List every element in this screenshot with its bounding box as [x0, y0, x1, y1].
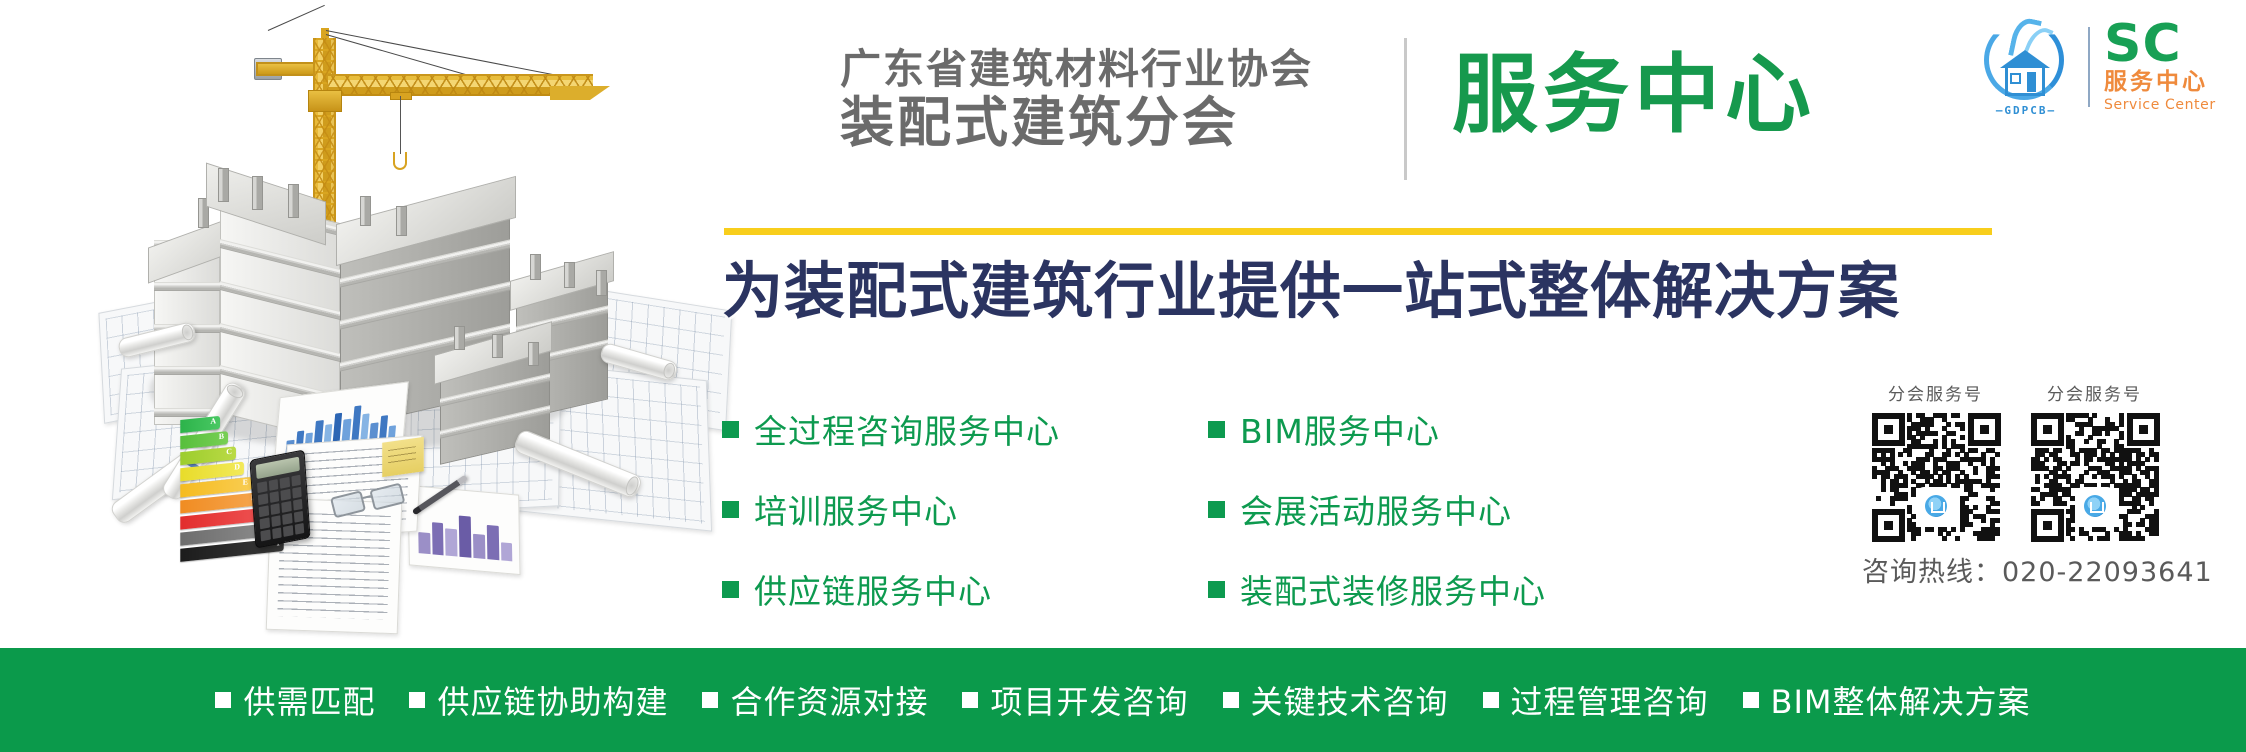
crane-trolley [390, 92, 412, 100]
service-item[interactable]: 培训服务中心 [722, 485, 1060, 533]
crane-hook [393, 152, 407, 170]
rebar-column [530, 254, 541, 280]
sticky-note [382, 437, 424, 477]
logo-house-window [2010, 73, 2021, 84]
rebar-column [218, 168, 229, 202]
crane-operator-cab [308, 90, 342, 112]
square-bullet-icon [1208, 501, 1225, 518]
qr-code-image[interactable] [2031, 413, 2158, 540]
sc-chinese-label: 服务中心 [2104, 69, 2216, 95]
purple-bar-chart-sheet [408, 485, 521, 575]
energy-grade: B [219, 432, 224, 442]
logo-house-icon [2000, 50, 2050, 96]
tagline: 为装配式建筑行业提供一站式整体解决方案 [722, 258, 1900, 325]
square-bullet-icon [1223, 692, 1239, 708]
energy-bar: A [180, 416, 220, 433]
rebar-column [492, 334, 503, 358]
square-bullet-icon [722, 421, 739, 438]
calculator [249, 449, 310, 548]
gdpcb-association-logo-icon: —GDPCB— [1978, 18, 2074, 116]
title-vertical-divider [1404, 38, 1407, 180]
qr-embedded-logo [1919, 489, 1953, 523]
crane-tie-rear [268, 5, 325, 31]
bottom-bar-item[interactable]: BIM整体解决方案 [1743, 677, 2031, 723]
gold-horizontal-rule [724, 228, 1992, 235]
energy-grade: C [226, 447, 232, 457]
service-item-label: 供应链服务中心 [754, 565, 992, 613]
construction-hero-illustration: A B C D E F G H I [30, 0, 690, 630]
service-item-label: 会展活动服务中心 [1240, 485, 1512, 533]
association-title: 广东省建筑材料行业协会 装配式建筑分会 [840, 48, 1380, 154]
calculator-keys [257, 475, 304, 542]
service-center-list: 全过程咨询服务中心 培训服务中心 供应链服务中心 BIM服务中心 会展活动服务中… [722, 405, 1546, 613]
energy-grade: E [243, 477, 248, 487]
bottom-bar-label: 供需匹配 [243, 677, 375, 723]
square-bullet-icon [702, 692, 718, 708]
gdpcb-code-text: —GDPCB— [1978, 104, 2074, 117]
crane-tie-front [326, 30, 562, 77]
square-bullet-icon [1208, 421, 1225, 438]
sc-initials: SC [2104, 20, 2216, 69]
square-bullet-icon [722, 501, 739, 518]
rebar-column [396, 206, 407, 236]
qr-block: 分会服务号 [2031, 380, 2158, 540]
bottom-bar-item[interactable]: 供应链协助构建 [409, 677, 668, 723]
logo-vertical-divider [2088, 27, 2090, 107]
qr-code-area: 分会服务号 分会服务号 [1872, 380, 2158, 540]
square-bullet-icon [409, 692, 425, 708]
qr-embedded-logo [2078, 489, 2112, 523]
association-name-line1: 广东省建筑材料行业协会 [840, 48, 1380, 91]
service-center-logo: SC 服务中心 Service Center [2104, 20, 2216, 114]
square-bullet-icon [1208, 581, 1225, 598]
bottom-bar-label: 过程管理咨询 [1511, 677, 1709, 723]
rebar-column [564, 262, 575, 288]
service-item-label: 装配式装修服务中心 [1240, 565, 1546, 613]
chart-bars [418, 501, 513, 561]
service-item[interactable]: BIM服务中心 [1208, 405, 1546, 453]
square-bullet-icon [1743, 692, 1759, 708]
service-center-heading: 服务中心 [1452, 52, 1816, 138]
logo-house-pillar [2027, 72, 2036, 92]
rebar-column [252, 176, 263, 210]
square-bullet-icon [962, 692, 978, 708]
qr-caption: 分会服务号 [2031, 380, 2158, 405]
bottom-bar-item[interactable]: 供需匹配 [215, 677, 375, 723]
bottom-bar-label: BIM整体解决方案 [1771, 677, 2031, 723]
square-bullet-icon [215, 692, 231, 708]
service-item-label: 培训服务中心 [754, 485, 958, 533]
crane-hoist-line [400, 96, 401, 154]
logo-house-roof [2000, 50, 2050, 68]
hotline-text: 咨询热线：020-22093641 [1862, 550, 2213, 589]
rebar-column [528, 342, 539, 366]
energy-grade: D [234, 462, 240, 472]
service-column-1: 全过程咨询服务中心 培训服务中心 供应链服务中心 [722, 405, 1060, 613]
bottom-bar-item[interactable]: 项目开发咨询 [962, 677, 1188, 723]
rebar-column [360, 196, 371, 226]
bottom-bar-label: 项目开发咨询 [990, 677, 1188, 723]
service-item-label: 全过程咨询服务中心 [754, 405, 1060, 453]
service-item[interactable]: 装配式装修服务中心 [1208, 565, 1546, 613]
service-item[interactable]: 供应链服务中心 [722, 565, 1060, 613]
qr-caption: 分会服务号 [1872, 380, 1999, 405]
service-item[interactable]: 全过程咨询服务中心 [722, 405, 1060, 453]
association-name-line2: 装配式建筑分会 [840, 93, 1380, 153]
bottom-bar-item[interactable]: 关键技术咨询 [1223, 677, 1449, 723]
service-item[interactable]: 会展活动服务中心 [1208, 485, 1546, 533]
crane-jib-tip [550, 86, 610, 100]
qr-block: 分会服务号 [1872, 380, 1999, 540]
service-column-2: BIM服务中心 会展活动服务中心 装配式装修服务中心 [1208, 405, 1546, 613]
sc-english-label: Service Center [2104, 96, 2216, 114]
qr-code-image[interactable] [1872, 413, 1999, 540]
rebar-column [454, 326, 465, 350]
bottom-bar-item[interactable]: 合作资源对接 [702, 677, 928, 723]
promo-banner: A B C D E F G H I [0, 0, 2246, 752]
energy-bar: B [180, 431, 228, 449]
bottom-bar-label: 供应链协助构建 [437, 677, 668, 723]
bottom-services-bar: 供需匹配 供应链协助构建 合作资源对接 项目开发咨询 关键技术咨询 过程管理咨询… [0, 648, 2246, 752]
crane-tie-mid [326, 34, 470, 76]
bottom-bar-label: 合作资源对接 [730, 677, 928, 723]
rebar-column [288, 184, 299, 218]
rebar-column [596, 270, 607, 296]
bottom-bar-label: 关键技术咨询 [1251, 677, 1449, 723]
logo-area: —GDPCB— SC 服务中心 Service Center [1978, 18, 2216, 116]
energy-grade: A [210, 416, 216, 426]
square-bullet-icon [1483, 692, 1499, 708]
square-bullet-icon [722, 581, 739, 598]
bottom-bar-item[interactable]: 过程管理咨询 [1483, 677, 1709, 723]
service-item-label: BIM服务中心 [1240, 405, 1440, 453]
